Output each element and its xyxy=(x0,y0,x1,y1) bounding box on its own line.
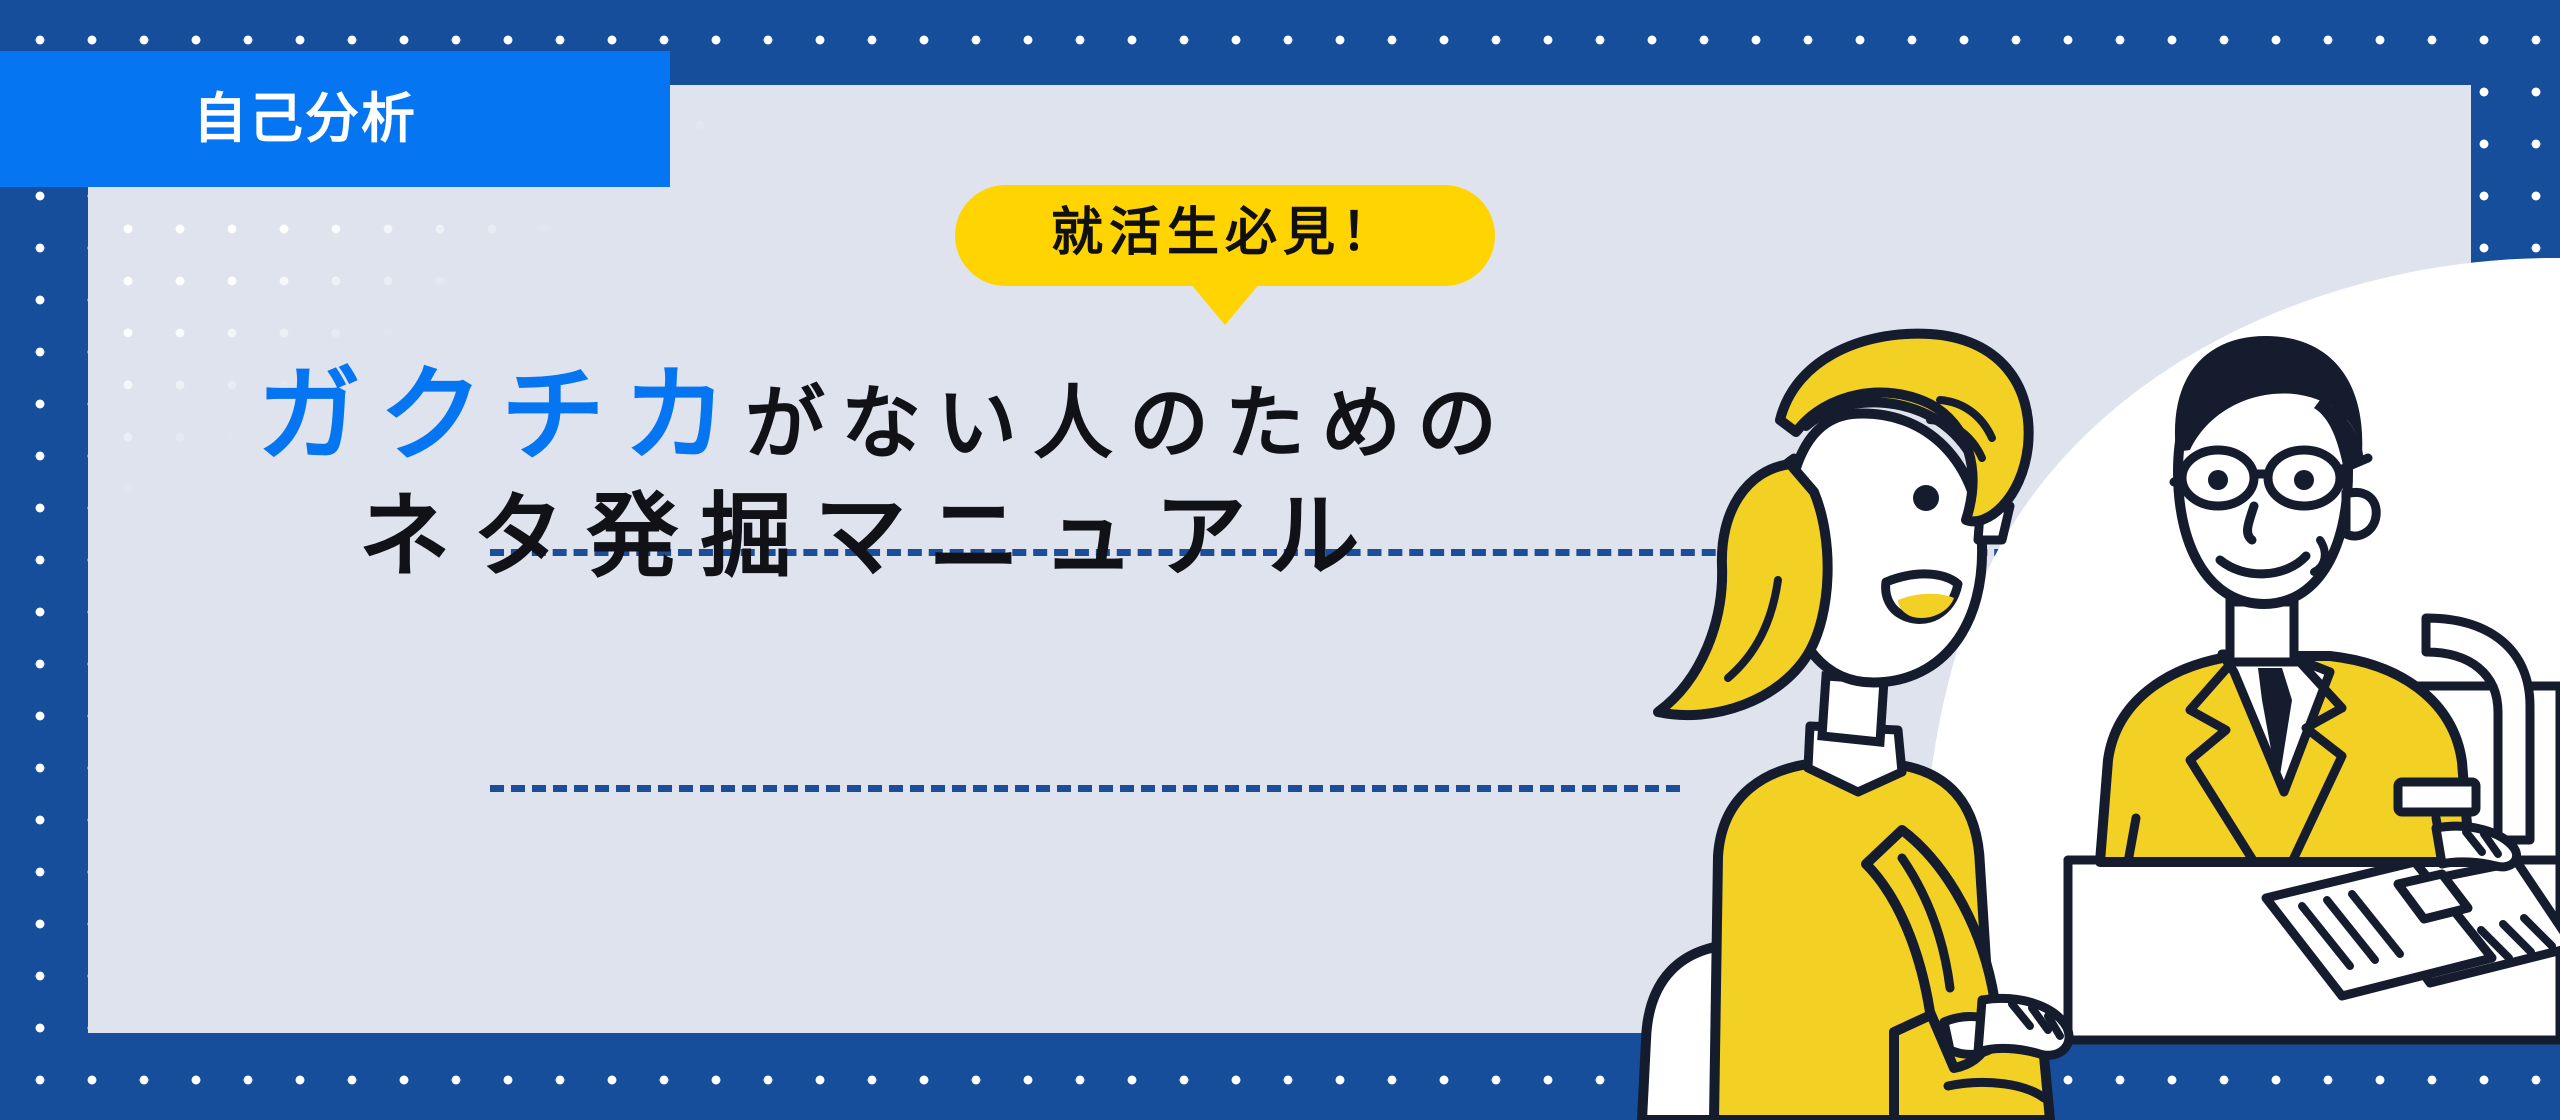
speech-bubble: 就活生必見！ xyxy=(955,185,1495,286)
dashed-rule-bottom xyxy=(490,785,1680,792)
headline-line-1-rest: がない人のための xyxy=(745,378,1513,471)
applicant-hand-lower xyxy=(1948,1082,2044,1098)
speech-bubble-text: 就活生必見！ xyxy=(1051,205,1399,262)
banner-root: 自己分析 就活生必見！ ガクチカ がない人のための ネタ発掘マニュアル xyxy=(0,0,2560,1120)
headline-accent-word: ガクチカ xyxy=(257,355,745,476)
headline-line-1: ガクチカ がない人のための xyxy=(0,355,1710,476)
page-title: ガクチカ がない人のための ネタ発掘マニュアル xyxy=(0,355,1710,590)
category-tab[interactable]: 自己分析 xyxy=(0,51,670,187)
headline-line-2: ネタ発掘マニュアル xyxy=(0,484,1710,591)
headline-line-2-text: ネタ発掘マニュアル xyxy=(358,484,1381,591)
category-tab-label: 自己分析 xyxy=(193,92,417,146)
speech-bubble-body: 就活生必見！ xyxy=(955,185,1495,286)
speech-bubble-tail xyxy=(1190,283,1260,325)
